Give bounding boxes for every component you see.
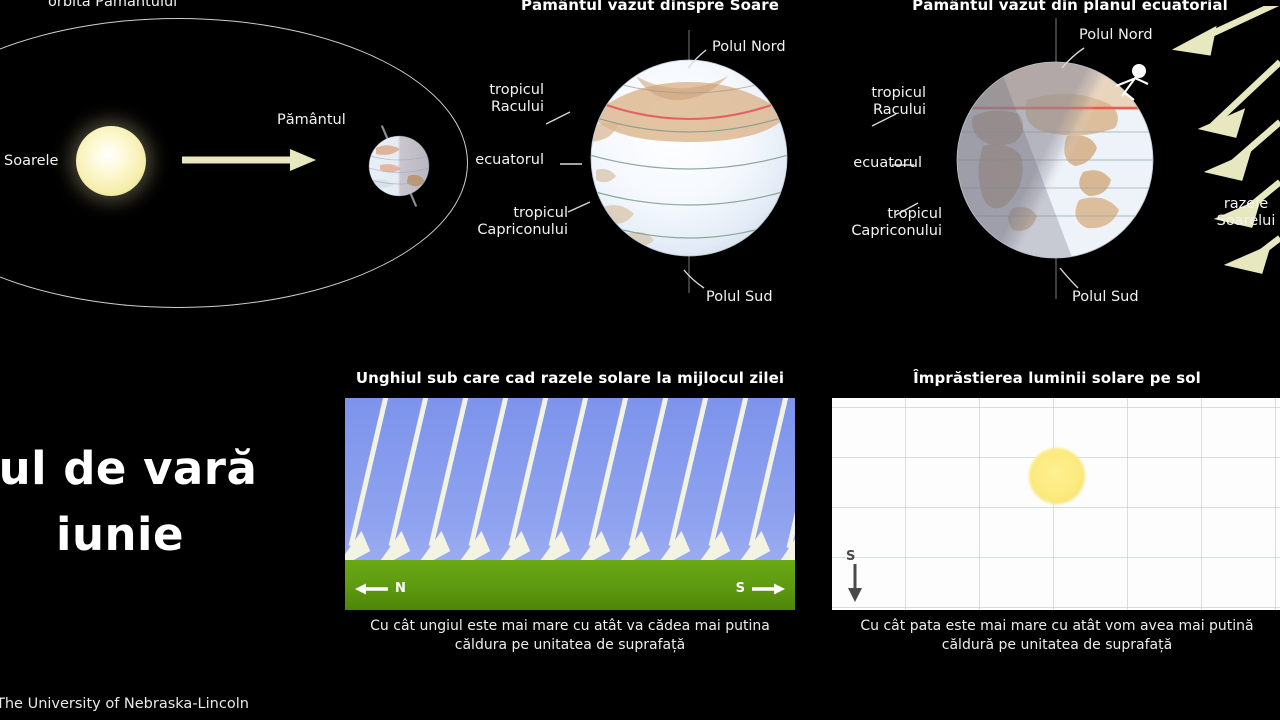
tropic-cancer-label-sun-view: tropicul Racului: [460, 82, 544, 116]
sun-label: Soarele: [4, 153, 58, 170]
south-pole-label-eq-view: Polul Sud: [1072, 289, 1139, 306]
sun-rays-label: razele Soarelui: [1206, 196, 1280, 230]
earth-small-sphere: [368, 120, 430, 212]
compass-south-label: S: [736, 581, 745, 596]
globe-from-sun-title: Pământul văzut dinspre Soare: [460, 0, 840, 14]
spread-compass-south-label: S: [846, 549, 855, 564]
equator-label-sun-view: ecuatorul: [450, 152, 544, 169]
sun-rays-arrows: [1130, 6, 1280, 286]
sun-sphere: [76, 126, 146, 196]
angle-panel-caption: Cu cât ungiul este mai mare cu atât va c…: [335, 617, 805, 655]
page-title: iul de vară iunie: [0, 436, 300, 568]
orbit-direction-arrow: [182, 145, 317, 175]
arrow-left-icon: [355, 583, 389, 595]
angle-panel-title: Unghiul sub care cad razele solare la mi…: [345, 369, 795, 387]
earth-label: Pământul: [277, 112, 346, 129]
globe-sphere-sun-view: [578, 58, 800, 258]
sunlight-spot: [1029, 448, 1085, 504]
credit-line: The University of Nebraska-Lincoln: [0, 696, 249, 712]
orbit-title-label: orbita Pământului: [48, 0, 177, 11]
compass-north: N: [355, 581, 406, 596]
angle-panel-sky: N S: [345, 398, 795, 610]
arrow-right-icon: [751, 583, 785, 595]
tropic-capricorn-label-eq-view: tropicul Capriconului: [830, 206, 942, 240]
equator-label-eq-view: ecuatorul: [828, 155, 922, 172]
tropic-cancer-label-eq-view: tropicul Racului: [840, 85, 926, 119]
north-pole-label-sun-view: Polul Nord: [712, 39, 786, 56]
compass-south: S: [736, 581, 785, 596]
infographic-canvas: orbita Pământului Soarele Pământul: [0, 0, 1280, 720]
tropic-capricorn-label-sun-view: tropicul Capriconului: [458, 205, 568, 239]
spread-panel-title: Împrăstierea luminii solare pe sol: [832, 369, 1280, 387]
ground-surface: [345, 560, 795, 610]
spread-panel-surface: S: [832, 398, 1280, 610]
south-pole-label-sun-view: Polul Sud: [706, 289, 773, 306]
spread-panel-caption: Cu cât pata este mai mare cu atât vom av…: [824, 617, 1280, 655]
compass-north-label: N: [395, 581, 406, 596]
